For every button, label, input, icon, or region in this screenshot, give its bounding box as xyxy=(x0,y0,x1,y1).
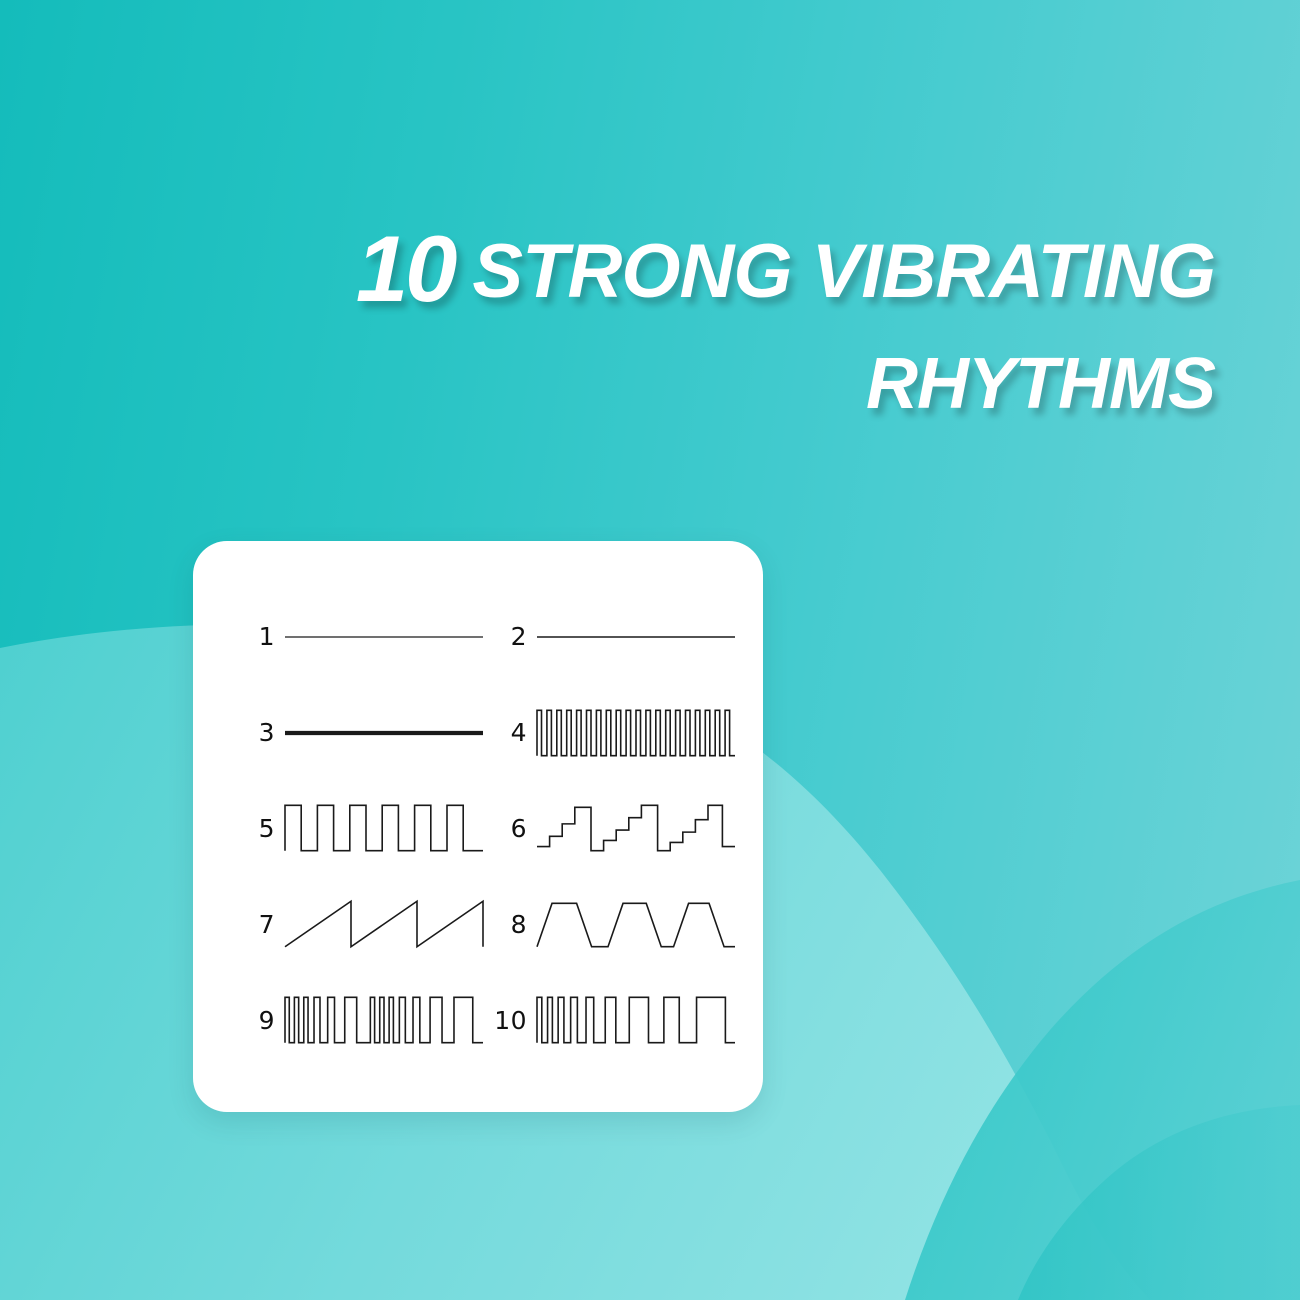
waveform-trace xyxy=(537,710,735,755)
waveform-number-label: 5 xyxy=(231,816,275,841)
waveform-number-label: 4 xyxy=(483,720,527,745)
waveform-plot-fast-burst-then-slow xyxy=(285,989,483,1051)
waveform-number-label: 3 xyxy=(231,720,275,745)
waveform-number-label: 10 xyxy=(483,1008,527,1033)
waveform-row[interactable]: 8 xyxy=(483,876,735,972)
waveform-svg xyxy=(285,893,483,955)
waveform-trace xyxy=(285,806,483,851)
waveform-card: 12345678910 xyxy=(193,541,763,1112)
title-line-primary: 10STRONG VIBRATING xyxy=(0,222,1215,316)
waveform-svg xyxy=(537,797,735,859)
waveform-trace xyxy=(285,997,483,1042)
waveform-svg xyxy=(285,702,483,764)
waveform-trace xyxy=(285,902,483,947)
waveform-number-label: 2 xyxy=(483,624,527,649)
waveform-svg xyxy=(537,702,735,764)
waveform-number-label: 6 xyxy=(483,816,527,841)
waveform-row[interactable]: 5 xyxy=(231,781,483,877)
waveform-plot-steady-low-continuous xyxy=(285,606,483,668)
title-text-strong-vibrating: STRONG VIBRATING xyxy=(472,229,1215,314)
waveform-svg xyxy=(537,606,735,668)
waveform-svg xyxy=(285,606,483,668)
waveform-plot-steady-medium-continuous xyxy=(537,606,735,668)
waveform-trace xyxy=(537,904,735,947)
waveform-row[interactable]: 7 xyxy=(231,876,483,972)
waveform-plot-very-fast-pulse xyxy=(537,702,735,764)
waveform-svg xyxy=(537,893,735,955)
waveform-row[interactable]: 2 xyxy=(483,589,735,685)
title-line-secondary: RHYTHMS xyxy=(0,348,1215,420)
waveform-trace xyxy=(537,997,735,1042)
waveform-number-label: 1 xyxy=(231,624,275,649)
waveform-row[interactable]: 4 xyxy=(483,685,735,781)
waveform-plot-trapezoid-wave xyxy=(537,893,735,955)
waveform-svg xyxy=(285,797,483,859)
waveform-row[interactable]: 1 xyxy=(231,589,483,685)
waveform-number-label: 9 xyxy=(231,1008,275,1033)
waveform-plot-regular-square-pulse xyxy=(285,797,483,859)
waveform-number-label: 8 xyxy=(483,912,527,937)
waveform-row[interactable]: 3 xyxy=(231,685,483,781)
page-title: 10STRONG VIBRATING RHYTHMS xyxy=(0,222,1215,420)
waveform-row[interactable]: 9 xyxy=(231,972,483,1068)
waveform-svg xyxy=(285,989,483,1051)
waveform-grid: 12345678910 xyxy=(193,541,763,1112)
waveform-plot-sawtooth-ramp xyxy=(285,893,483,955)
poster-canvas: 10STRONG VIBRATING RHYTHMS 12345678910 xyxy=(0,0,1300,1300)
waveform-row[interactable]: 10 xyxy=(483,972,735,1068)
title-count: 10 xyxy=(356,216,455,321)
waveform-svg xyxy=(537,989,735,1051)
waveform-plot-accelerating-wide-pulse xyxy=(537,989,735,1051)
waveform-plot-steady-high-continuous xyxy=(285,702,483,764)
waveform-trace xyxy=(537,806,735,851)
waveform-row[interactable]: 6 xyxy=(483,781,735,877)
waveform-number-label: 7 xyxy=(231,912,275,937)
waveform-plot-ascending-staircase xyxy=(537,797,735,859)
